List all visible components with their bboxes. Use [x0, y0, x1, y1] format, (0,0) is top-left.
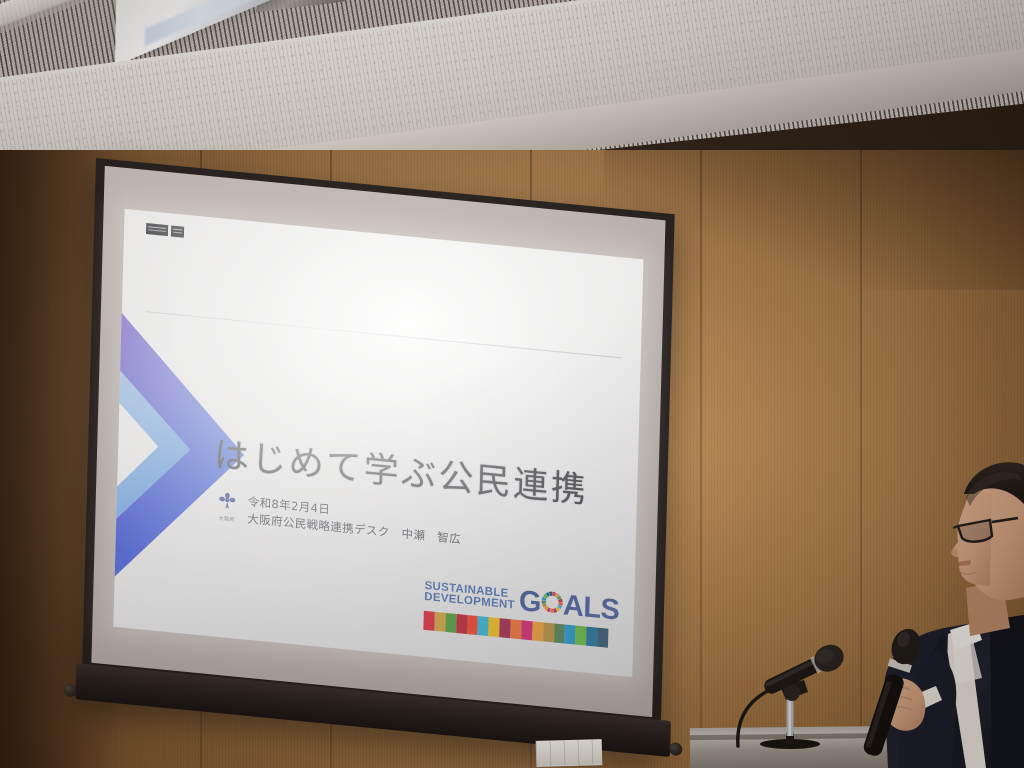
- sdg-goals-g: G: [519, 588, 542, 617]
- projected-slide: はじめて学ぶ公民連携 大阪府: [113, 209, 643, 677]
- sdg-wheel-segment: [550, 608, 554, 612]
- sdg-bar-segment: [434, 612, 445, 632]
- sdg-bar-segment: [499, 618, 510, 638]
- sdg-bar-segment: [456, 614, 467, 634]
- sdg-bar-segment: [510, 619, 521, 639]
- desk-microphone: [730, 634, 850, 744]
- paper-stack: [536, 739, 603, 767]
- sdg-bar-segment: [521, 620, 532, 640]
- osaka-logo-label: 大阪府: [214, 514, 239, 523]
- osaka-emblem-icon: [218, 492, 237, 511]
- sdg-wordmark: SUSTAINABLE DEVELOPMENT: [424, 581, 515, 613]
- sdg-bar-segment: [597, 627, 608, 647]
- sdg-bar-segment: [564, 624, 575, 644]
- slide-subtitle-lines: 令和8年2月4日 大阪府公民戦略連携デスク 中瀬 智広: [247, 493, 462, 548]
- sdg-color-wheel-icon: [541, 590, 564, 619]
- logo-mark-block-b: [171, 225, 184, 237]
- photo-scene: はじめて学ぶ公民連携 大阪府: [0, 0, 1024, 768]
- presenter: [840, 438, 1024, 768]
- projection-screen: はじめて学ぶ公民連携 大阪府: [81, 158, 674, 754]
- sdg-bar-segment: [543, 622, 554, 642]
- sdg-bar-segment: [586, 626, 597, 646]
- screen-bar-cap-left: [63, 683, 76, 697]
- sdg-goals-word: G ALS: [519, 588, 620, 624]
- sdg-bar-segment: [445, 613, 456, 633]
- sdg-bar-segment: [554, 623, 565, 643]
- sdg-bar-segment: [532, 621, 543, 641]
- slide-corner-mark: [146, 223, 184, 238]
- sdg-bar-segment: [575, 625, 586, 645]
- osaka-prefecture-logo: 大阪府: [214, 490, 240, 523]
- sdg-bar-segment: [423, 610, 434, 630]
- sdg-goals-als: ALS: [563, 592, 620, 624]
- sdg-bar-segment: [478, 616, 489, 636]
- logo-mark-block-a: [146, 223, 168, 236]
- sdg-bar-segment: [467, 615, 478, 635]
- sdg-logo: SUSTAINABLE DEVELOPMENT G ALS: [423, 579, 609, 648]
- sdg-bar-segment: [488, 617, 499, 637]
